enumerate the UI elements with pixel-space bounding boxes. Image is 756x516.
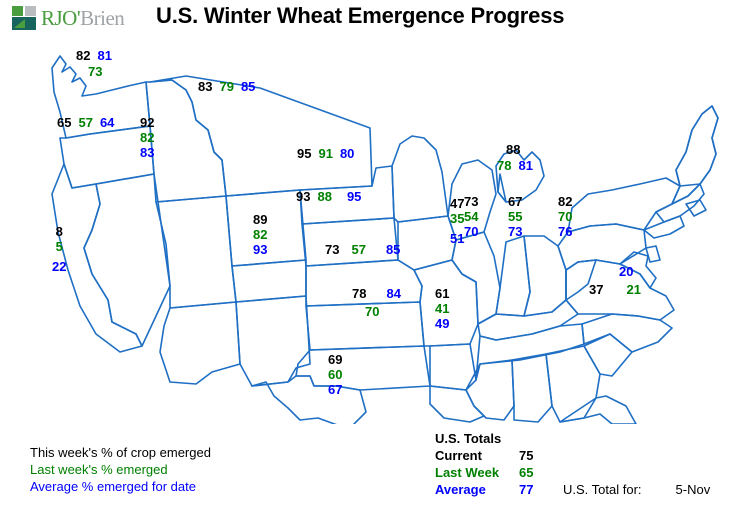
totals-heading-row: U.S. Totals (435, 430, 710, 447)
logo-text-brien: Brien (80, 6, 124, 31)
id-average: 83 (140, 145, 154, 160)
id-current: 92 (140, 115, 154, 130)
ok-last-week: 70 (365, 304, 379, 319)
state-values-wa-last: 73 (88, 64, 102, 79)
ks-average: 85 (386, 242, 400, 257)
totals-average-row: Average 77 U.S. Total for: 5-Nov (435, 481, 710, 498)
state-values-mt: 837985 (198, 79, 255, 94)
ar-current: 61 (435, 286, 449, 301)
mo-last-week: 35 (450, 211, 464, 226)
il-average: 70 (464, 224, 478, 239)
legend-item-average: Average % emerged for date (30, 478, 211, 495)
ca-last-week: 5 (52, 239, 66, 254)
ks-current: 73 (325, 242, 339, 257)
totals-last-week-row: Last Week 65 (435, 464, 710, 481)
mo-current: 47 (450, 196, 464, 211)
state-values-ok-last: 70 (365, 304, 379, 319)
sd-last-week: 91 (318, 146, 332, 161)
ne-average: 95 (347, 189, 361, 204)
legend-item-last-week: Last week's % emerged (30, 461, 211, 478)
totals-last-week-label: Last Week (435, 464, 519, 481)
state-values-mo: 47 35 51 (450, 196, 464, 246)
ne-current: 93 (296, 189, 310, 204)
totals-current-label: Current (435, 447, 519, 464)
rjobrien-logo: RJO'Brien (12, 4, 124, 32)
state-values-ok: 7884 (352, 286, 401, 301)
state-values-ne: 938895 (296, 189, 361, 204)
oh-average: 76 (558, 224, 572, 239)
state-values-oh: 82 70 76 (558, 194, 572, 239)
state-values-co: 89 82 93 (253, 212, 267, 257)
mi-average: 81 (518, 158, 532, 173)
state-values-mi: 88 (506, 142, 520, 157)
in-average: 73 (508, 224, 522, 239)
or-last-week: 57 (78, 115, 92, 130)
header: RJO'Brien U.S. Winter Wheat Emergence Pr… (0, 0, 756, 36)
ar-last-week: 41 (435, 301, 449, 316)
state-values-wa: 8281 (76, 48, 112, 63)
oh-current: 82 (558, 194, 572, 209)
ar-average: 49 (435, 316, 449, 331)
il-current: 73 (464, 194, 478, 209)
state-values-il: 73 54 70 (464, 194, 478, 239)
totals-average-value: 77 (519, 481, 559, 498)
state-values-nc-avg: 20 (619, 264, 633, 279)
totals-heading: U.S. Totals (435, 430, 519, 447)
tx-last-week: 60 (328, 367, 342, 382)
mi-current: 88 (506, 142, 520, 157)
us-map-outline (0, 34, 756, 424)
state-values-sd: 959180 (297, 146, 354, 161)
ok-current: 78 (352, 286, 366, 301)
ca-average: 22 (52, 259, 66, 274)
mt-average: 85 (241, 79, 255, 94)
us-totals-panel: U.S. Totals Current 75 Last Week 65 Aver… (435, 430, 710, 498)
oh-last-week: 70 (558, 209, 572, 224)
rjobrien-logo-icon (12, 6, 38, 30)
nc-current: 37 (589, 282, 603, 297)
tx-average: 67 (328, 382, 342, 397)
nc-last-week: 21 (626, 282, 640, 297)
state-values-ar: 61 41 49 (435, 286, 449, 331)
sd-current: 95 (297, 146, 311, 161)
page-title: U.S. Winter Wheat Emergence Progress (156, 3, 564, 29)
in-current: 67 (508, 194, 522, 209)
us-map: 8281 73 837985 655764 92 82 83 959180 88… (0, 34, 756, 424)
state-values-tx: 69 60 67 (328, 352, 342, 397)
totals-date-label: U.S. Total for: (563, 481, 642, 498)
in-last-week: 55 (508, 209, 522, 224)
ks-last-week: 57 (351, 242, 365, 257)
legend: This week's % of crop emerged Last week'… (30, 444, 211, 495)
co-average: 93 (253, 242, 267, 257)
totals-date-value: 5-Nov (676, 481, 711, 498)
or-current: 65 (57, 115, 71, 130)
or-average: 64 (100, 115, 114, 130)
mo-average: 51 (450, 231, 464, 246)
totals-last-week-value: 65 (519, 464, 559, 481)
totals-current-row: Current 75 (435, 447, 710, 464)
wa-last-week: 73 (88, 64, 102, 79)
state-values-mi-lower: 7881 (497, 158, 533, 173)
wa-current: 82 (76, 48, 90, 63)
mt-current: 83 (198, 79, 212, 94)
tx-current: 69 (328, 352, 342, 367)
ca-current: 8 (52, 224, 66, 239)
state-values-or: 655764 (57, 115, 114, 130)
id-last-week: 82 (140, 130, 154, 145)
ok-average: 84 (386, 286, 400, 301)
totals-average-label: Average (435, 481, 519, 498)
sd-average: 80 (340, 146, 354, 161)
totals-current-value: 75 (519, 447, 559, 464)
state-values-id: 92 82 83 (140, 115, 154, 160)
co-last-week: 82 (253, 227, 267, 242)
ne-last-week: 88 (317, 189, 331, 204)
nc-average: 20 (619, 264, 633, 279)
il-last-week: 54 (464, 209, 478, 224)
state-values-ca: 8 5 22 (52, 224, 66, 274)
state-values-in: 67 55 73 (508, 194, 522, 239)
mt-last-week: 79 (219, 79, 233, 94)
state-values-nc: 3721 (589, 282, 641, 297)
wa-average: 81 (97, 48, 111, 63)
chart-root: RJO'Brien U.S. Winter Wheat Emergence Pr… (0, 0, 756, 516)
legend-item-current: This week's % of crop emerged (30, 444, 211, 461)
co-current: 89 (253, 212, 267, 227)
logo-text-rjo: RJO' (41, 6, 80, 31)
state-values-ks: 735785 (325, 242, 400, 257)
mi-last-week: 78 (497, 158, 511, 173)
